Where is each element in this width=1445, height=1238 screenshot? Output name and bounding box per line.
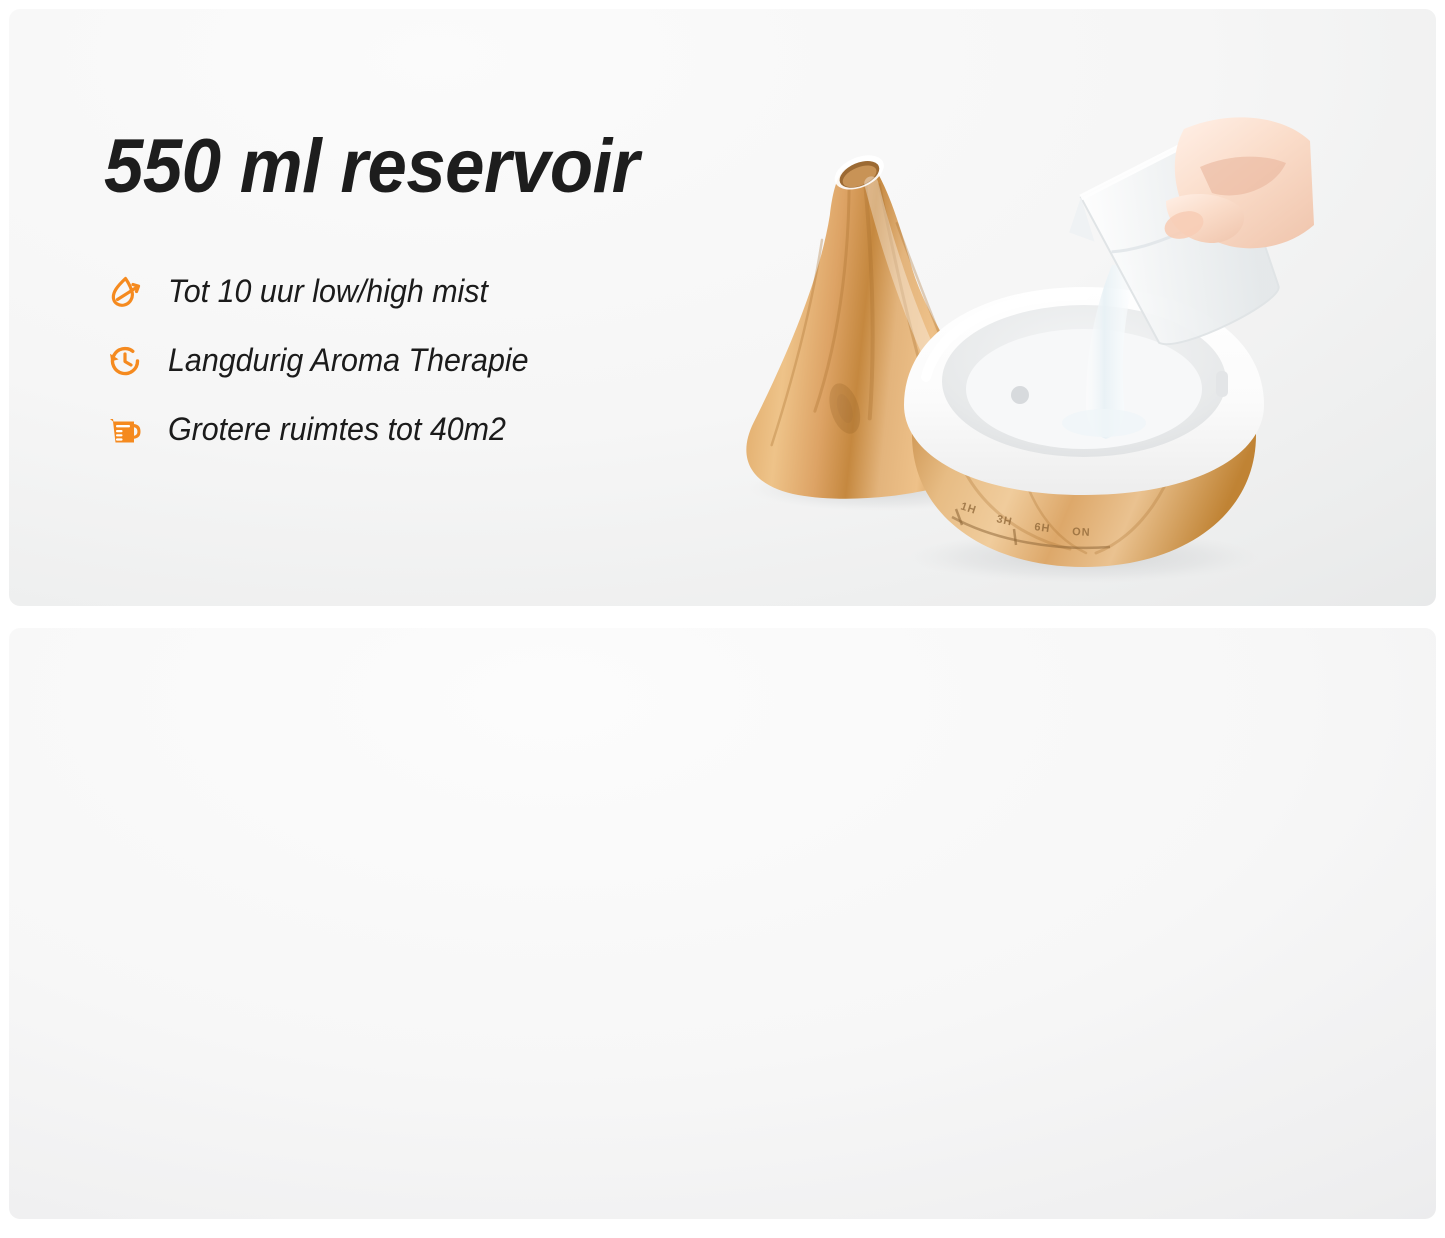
- feature-item-aroma-therapy: Langdurig Aroma Therapie: [104, 326, 804, 395]
- feature-item-mist: Tot 10 uur low/high mist: [104, 257, 804, 326]
- product-image-diffuser-open: 1H 3H 6H ON: [714, 105, 1314, 595]
- panel-auto-stop: 1H 3H 6H ON LIGHT MIST Auto-stop: [9, 628, 1436, 1219]
- panel-reservoir: 1H 3H 6H ON: [9, 9, 1436, 606]
- product-feature-sheet: 1H 3H 6H ON: [0, 0, 1445, 1238]
- page-title-reservoir: 550 ml reservoir: [104, 129, 755, 205]
- svg-text:6H: 6H: [1034, 521, 1052, 535]
- measuring-jug-icon: [104, 409, 146, 451]
- feature-label: Tot 10 uur low/high mist: [168, 273, 488, 310]
- reservoir-text-block: 550 ml reservoir Tot 10 uur low/high mis…: [104, 129, 804, 464]
- feature-label: Grotere ruimtes tot 40m2: [168, 411, 506, 448]
- clock-history-icon: [104, 340, 146, 382]
- mist-leaf-icon: [104, 271, 146, 313]
- feature-label: Langdurig Aroma Therapie: [168, 342, 529, 379]
- feature-item-room-size: Grotere ruimtes tot 40m2: [104, 395, 804, 464]
- hand: [1161, 117, 1314, 248]
- base-vent: [1216, 371, 1228, 397]
- svg-text:ON: ON: [1072, 526, 1091, 539]
- feature-list-reservoir: Tot 10 uur low/high mist Langdurig Aroma…: [104, 257, 804, 464]
- mist-outlet: [1011, 386, 1029, 404]
